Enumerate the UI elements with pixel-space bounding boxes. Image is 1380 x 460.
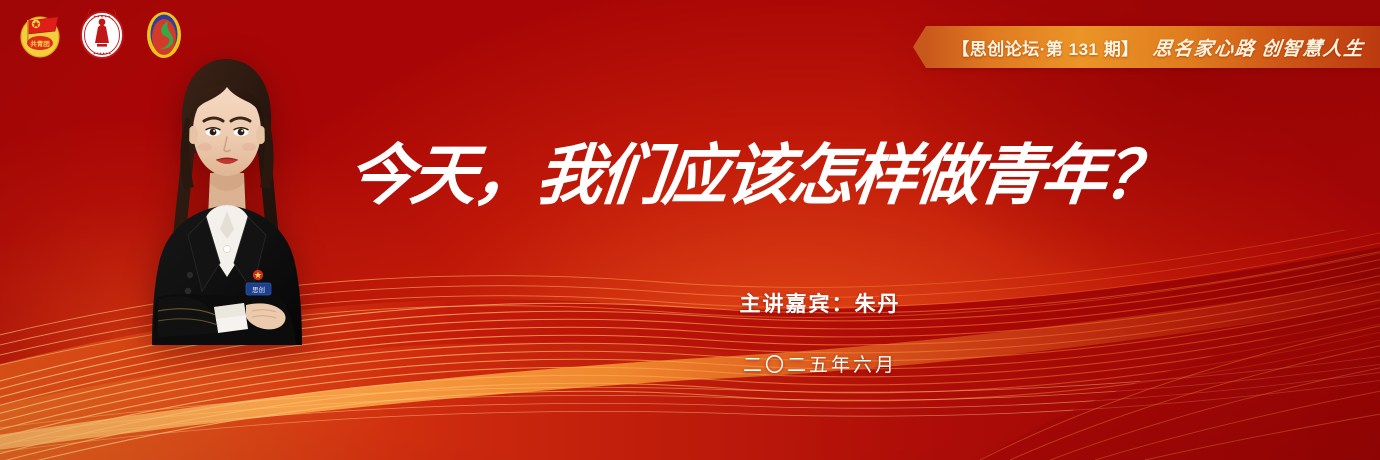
forum-series-label: 【思创论坛·第 131 期】 bbox=[952, 35, 1138, 60]
logo-cluster: 共青团 ★ ★ ★ ★ ★ ★★★★★★ bbox=[14, 9, 190, 61]
institutional-seal-emblem-icon: ★ ★ ★ ★ ★ ★★★★★★ bbox=[76, 9, 128, 61]
forum-banner: 共青团 ★ ★ ★ ★ ★ ★★★★★★ bbox=[0, 0, 1380, 460]
event-details: 主讲嘉宾：朱丹 二〇二五年六月 bbox=[540, 288, 1100, 377]
multicolor-oval-emblem-icon bbox=[138, 9, 190, 61]
forum-slogan: 思名家心路 创智慧人生 bbox=[1151, 34, 1366, 61]
banner-title-text: 今天，我们应该怎样做青年？ bbox=[344, 140, 1171, 213]
svg-text:★ ★ ★ ★ ★: ★ ★ ★ ★ ★ bbox=[93, 15, 111, 19]
date-line: 二〇二五年六月 bbox=[540, 350, 1100, 377]
speaker-portrait: 思创 bbox=[128, 53, 324, 345]
svg-text:思创: 思创 bbox=[252, 285, 265, 294]
communist-youth-league-emblem-icon: 共青团 bbox=[14, 9, 66, 61]
banner-title: 今天，我们应该怎样做青年？ bbox=[330, 112, 1180, 230]
svg-text:共青团: 共青团 bbox=[30, 39, 50, 48]
svg-text:★★★★★★: ★★★★★★ bbox=[93, 52, 111, 56]
speaker-line: 主讲嘉宾：朱丹 bbox=[540, 288, 1100, 318]
forum-series-ribbon: 【思创论坛·第 131 期】 思名家心路 创智慧人生 bbox=[926, 26, 1380, 68]
